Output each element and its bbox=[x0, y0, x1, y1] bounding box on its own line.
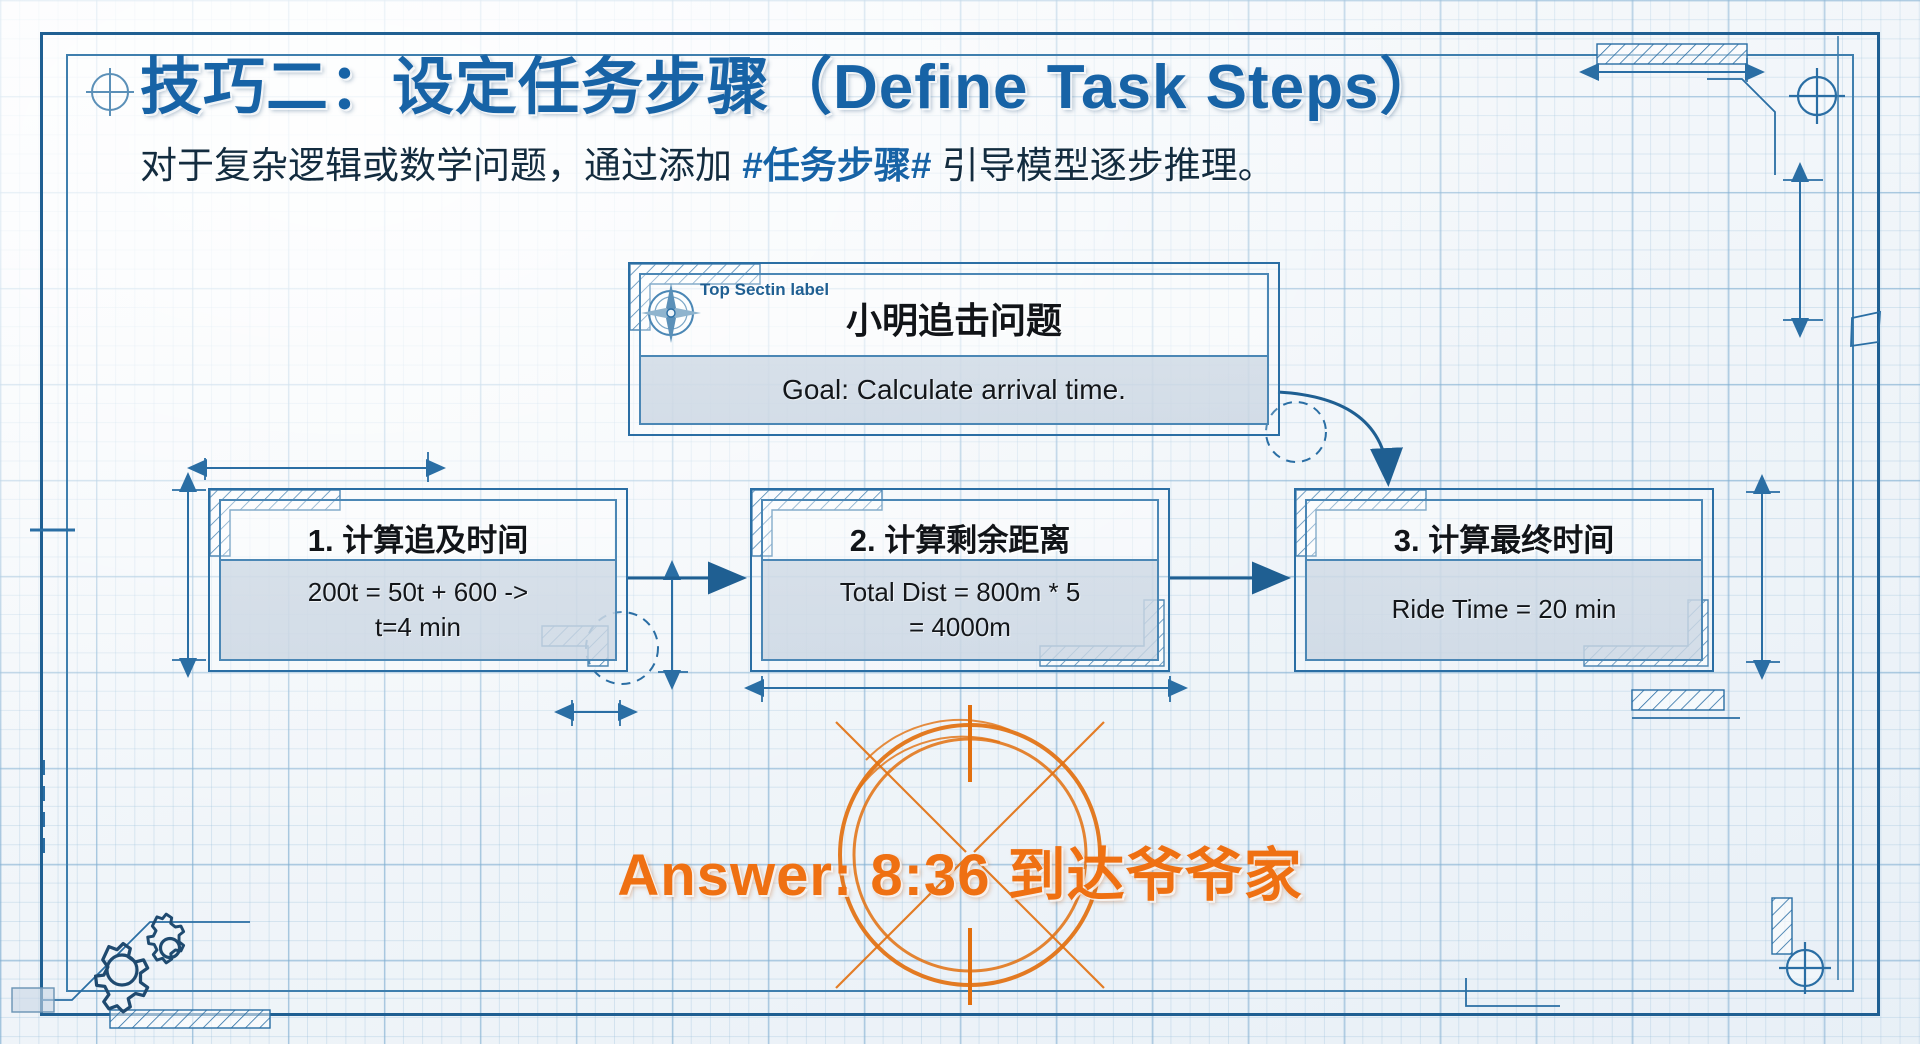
step-card-2-body: Total Dist = 800m * 5 = 4000m bbox=[763, 559, 1157, 659]
page-title: 技巧二：设定任务步骤（Define Task Steps） bbox=[140, 52, 1560, 123]
step-card-1: 1. 计算追及时间 200t = 50t + 600 -> t=4 min bbox=[208, 488, 628, 672]
step-card-1-line1: 200t = 50t + 600 -> bbox=[308, 575, 528, 610]
page-title-en: （Define Task Steps） bbox=[770, 53, 1442, 122]
step-card-3-line1: Ride Time = 20 min bbox=[1392, 592, 1617, 627]
step-card-1-body: 200t = 50t + 600 -> t=4 min bbox=[221, 559, 615, 659]
step-card-2-inner: 2. 计算剩余距离 Total Dist = 800m * 5 = 4000m bbox=[761, 499, 1159, 661]
step-card-1-line2: t=4 min bbox=[308, 610, 528, 645]
step-card-2-line1: Total Dist = 800m * 5 bbox=[840, 575, 1081, 610]
step-card-3-body: Ride Time = 20 min bbox=[1307, 559, 1701, 659]
top-section-label: Top Sectin label bbox=[700, 280, 829, 300]
step-card-1-inner: 1. 计算追及时间 200t = 50t + 600 -> t=4 min bbox=[219, 499, 617, 661]
subtitle-before: 对于复杂逻辑或数学问题，通过添加 bbox=[140, 145, 742, 186]
subtitle-after: 引导模型逐步推理。 bbox=[931, 145, 1274, 186]
step-card-2: 2. 计算剩余距离 Total Dist = 800m * 5 = 4000m bbox=[750, 488, 1170, 672]
page-subtitle: 对于复杂逻辑或数学问题，通过添加 #任务步骤# 引导模型逐步推理。 bbox=[140, 135, 1560, 189]
step-card-2-line2: = 4000m bbox=[840, 610, 1081, 645]
step-card-3-inner: 3. 计算最终时间 Ride Time = 20 min bbox=[1305, 499, 1703, 661]
answer-text: Answer: 8:36 到达爷爷家 bbox=[0, 828, 1920, 912]
gears-icon bbox=[78, 906, 198, 1014]
compass-rose-icon bbox=[640, 282, 702, 344]
step-card-3: 3. 计算最终时间 Ride Time = 20 min bbox=[1294, 488, 1714, 672]
page-title-cn: 技巧二：设定任务步骤 bbox=[140, 53, 770, 122]
top-section-goal: Goal: Calculate arrival time. bbox=[641, 355, 1267, 423]
blueprint-canvas: 技巧二：设定任务步骤（Define Task Steps） 对于复杂逻辑或数学问… bbox=[0, 0, 1920, 1044]
subtitle-highlight: #任务步骤# bbox=[742, 145, 931, 186]
page-header: 技巧二：设定任务步骤（Define Task Steps） 对于复杂逻辑或数学问… bbox=[140, 52, 1560, 189]
